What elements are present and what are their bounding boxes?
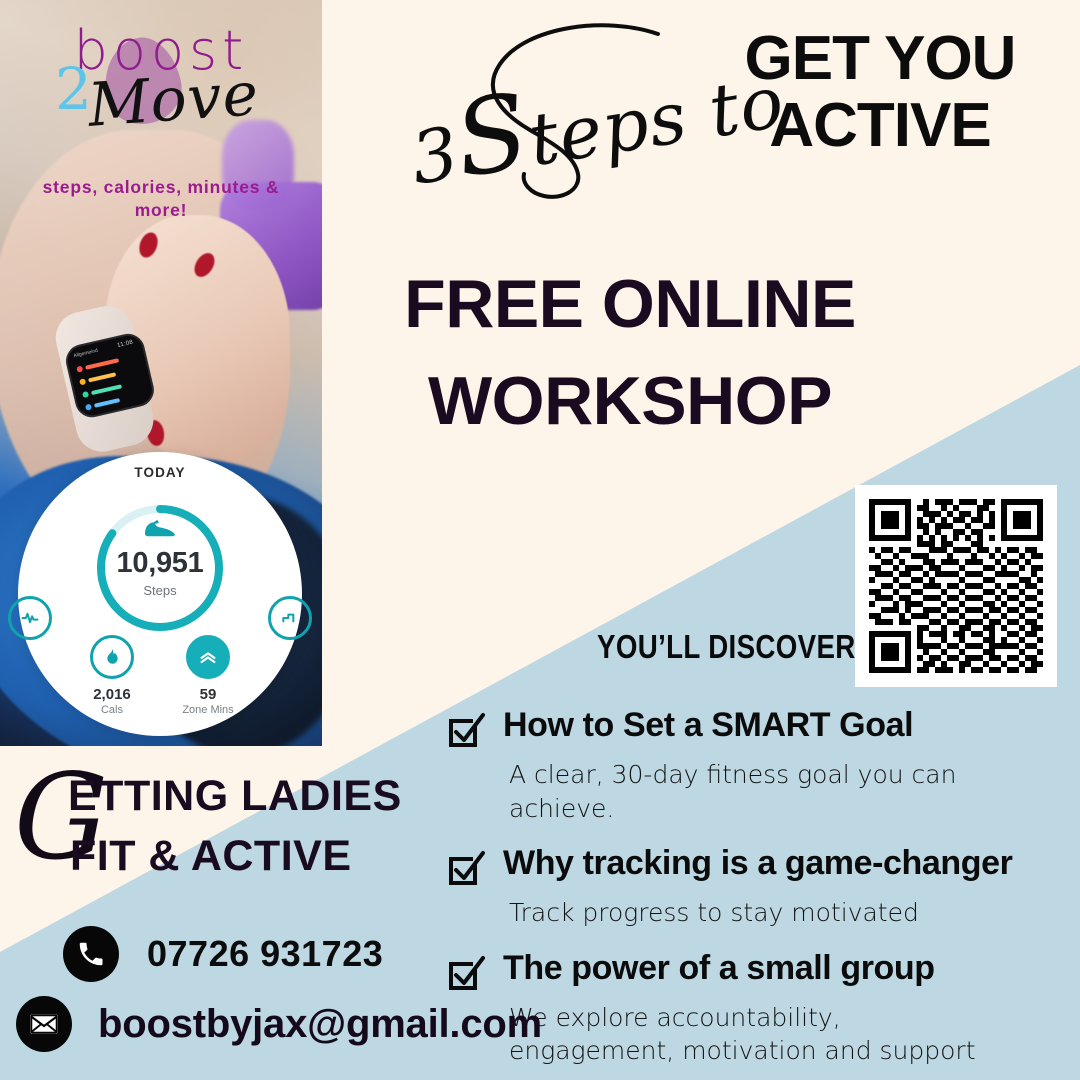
benefit-description: Track progress to stay motivated: [509, 896, 1067, 930]
contact-block: 07726 931723 boostbyjax@gmail.com: [16, 926, 542, 1066]
running-shoe-icon: [143, 518, 177, 540]
contact-phone-row[interactable]: 07726 931723: [16, 926, 542, 982]
stat-cals: 2,016 Cals: [76, 635, 148, 716]
main-title-line2: WORKSHOP: [428, 363, 832, 439]
headline-bold-line1: GET YOU: [745, 24, 1016, 93]
logo-tagline-line1: steps, calories, minutes &: [43, 177, 280, 197]
brand-logo: boost 2 Move steps, calories, minutes & …: [0, 24, 322, 78]
stat-caption: Cals: [76, 704, 148, 716]
logo-script-move: Move: [86, 64, 261, 136]
benefit-description: We explore accountability, engagement, m…: [509, 1001, 1067, 1068]
logo-tagline-line2: more!: [135, 200, 188, 220]
sleep-icon: [268, 596, 312, 640]
stat-caption: Zone Mins: [172, 704, 244, 716]
poster-canvas: Allgemeind 11:08 TODAY: [0, 0, 1080, 1080]
steps-caption: Steps: [92, 583, 228, 598]
tagline-line1: ETTING LADIES: [68, 772, 402, 821]
discover-heading: YOU’LL DISCOVER: [597, 628, 856, 666]
heart-rate-icon: [8, 596, 52, 640]
watch-time-label: 11:08: [117, 340, 134, 349]
headline-bold: GET YOU ACTIVE: [700, 26, 1060, 160]
contact-phone: 07726 931723: [147, 933, 383, 975]
stat-zone-mins: 59 Zone Mins: [172, 635, 244, 716]
tracker-stats: 2,016 Cals 59 Zone Mins: [18, 635, 302, 716]
smartwatch: Allgemeind 11:08: [54, 324, 163, 428]
contact-email-row[interactable]: boostbyjax@gmail.com: [16, 996, 542, 1052]
checkbox-checked-icon: [447, 711, 487, 756]
phone-icon: [63, 926, 119, 982]
contact-email: boostbyjax@gmail.com: [98, 1002, 542, 1047]
headline-bold-line2: ACTIVE: [769, 91, 990, 160]
main-title: FREE ONLINE WORKSHOP: [360, 256, 900, 449]
list-item: How to Set a SMART Goal A clear, 30-day …: [447, 706, 1067, 825]
steps-value: 10,951: [92, 547, 228, 580]
qr-code-matrix: [869, 499, 1043, 673]
benefit-title: Why tracking is a game-changer: [503, 844, 1013, 882]
flame-icon: [90, 635, 134, 679]
benefit-title: The power of a small group: [503, 949, 935, 987]
stat-value: 59: [172, 686, 244, 703]
benefit-title: How to Set a SMART Goal: [503, 706, 913, 744]
watch-day-label: Allgemeind: [73, 348, 98, 359]
fitness-tracker-widget: TODAY 10,951 Steps: [18, 452, 302, 736]
stat-value: 2,016: [76, 686, 148, 703]
tagline-line2: FIT & ACTIVE: [70, 832, 352, 881]
checkbox-checked-icon: [447, 849, 487, 894]
logo-tagline: steps, calories, minutes & more!: [0, 176, 322, 222]
tracker-header: TODAY: [18, 465, 302, 480]
list-item: Why tracking is a game-changer Track pro…: [447, 844, 1067, 930]
envelope-icon: [16, 996, 72, 1052]
headline-script-rest: teps: [523, 74, 693, 182]
zone-minutes-icon: [186, 635, 230, 679]
main-title-line1: FREE ONLINE: [404, 266, 856, 342]
steps-ring: 10,951 Steps: [92, 500, 228, 636]
benefit-description: A clear, 30-day fitness goal you can ach…: [509, 758, 1067, 825]
qr-code[interactable]: [855, 485, 1057, 687]
